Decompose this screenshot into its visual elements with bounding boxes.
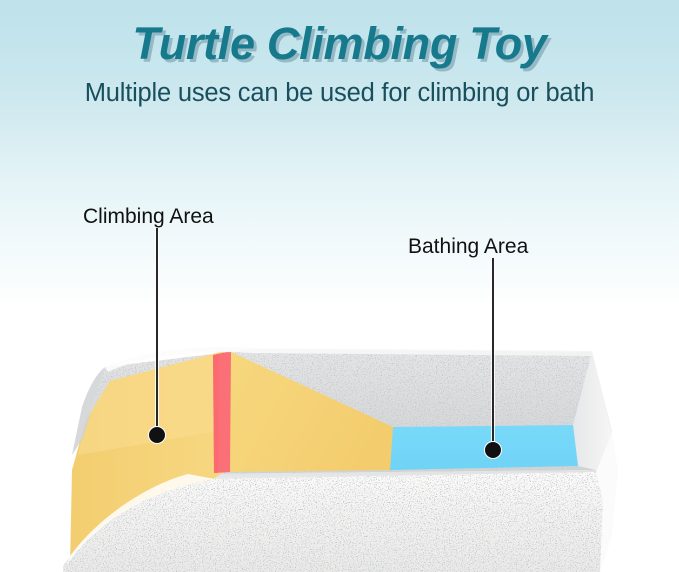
bathing-water — [390, 425, 578, 470]
product-illustration — [0, 0, 679, 572]
callout-label-bathing-area: Bathing Area — [408, 235, 528, 259]
product-infographic-page: Turtle Climbing Toy Multiple uses can be… — [0, 0, 679, 572]
ramp-divider-stripe — [213, 351, 231, 473]
callout-label-climbing-area: Climbing Area — [83, 205, 214, 229]
